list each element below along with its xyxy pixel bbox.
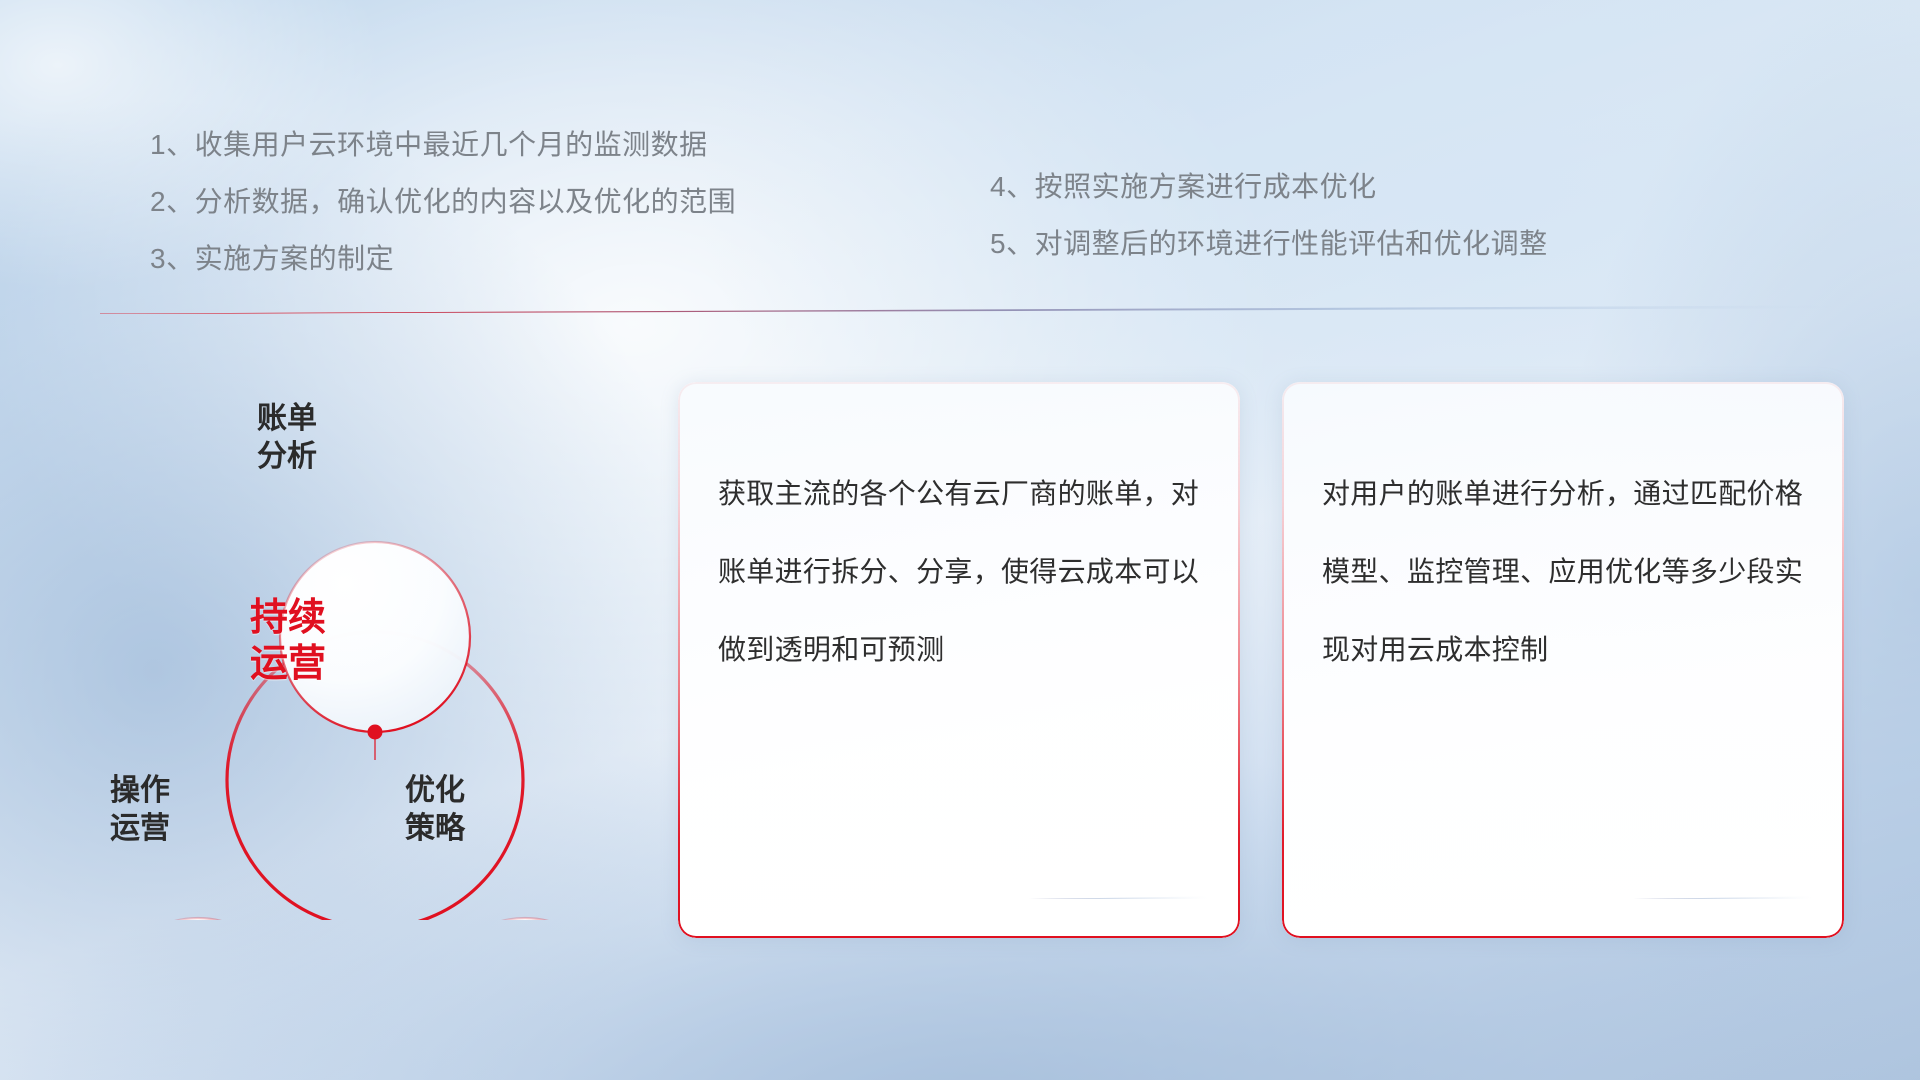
cycle-node-label-top-line1: 账单 (207, 400, 367, 438)
cycle-node-label-right-line2: 策略 (355, 810, 515, 848)
cycle-center-label: 持续 运营 (208, 595, 368, 687)
step-item: 3、实施方案的制定 (150, 230, 736, 287)
section-divider (100, 305, 1838, 314)
cycle-node-right-bubble (432, 918, 618, 920)
step-item: 2、分析数据，确认优化的内容以及优化的范围 (150, 173, 736, 230)
card-description: 对用户的账单进行分析，通过匹配价格模型、监控管理、应用优化等多少段实现对用云成本… (1322, 455, 1808, 689)
feature-card[interactable]: 获取主流的各个公有云厂商的账单，对账单进行拆分、分享，使得云成本可以做到透明和可… (678, 382, 1240, 938)
cycle-center-label-line1: 持续 (208, 595, 368, 641)
cycle-center-label-line2: 运营 (208, 641, 368, 687)
steps-list-left: 1、收集用户云环境中最近几个月的监测数据 2、分析数据，确认优化的内容以及优化的… (150, 116, 736, 287)
step-item: 5、对调整后的环境进行性能评估和优化调整 (990, 215, 1548, 272)
card-divider (1319, 891, 1811, 899)
card-description: 获取主流的各个公有云厂商的账单，对账单进行拆分、分享，使得云成本可以做到透明和可… (718, 455, 1204, 689)
cycle-node-label-left-line2: 运营 (60, 810, 220, 848)
step-item: 4、按照实施方案进行成本优化 (990, 158, 1548, 215)
card-divider (715, 891, 1207, 899)
slide-content: 1、收集用户云环境中最近几个月的监测数据 2、分析数据，确认优化的内容以及优化的… (0, 0, 1920, 1080)
cycle-node-label-left-line1: 操作 (60, 772, 220, 810)
cycle-node-label-right-line1: 优化 (355, 772, 515, 810)
cycle-node-left-bubble (105, 918, 291, 920)
steps-list-right: 4、按照实施方案进行成本优化 5、对调整后的环境进行性能评估和优化调整 (990, 158, 1548, 272)
cycle-node-label-bottom-right: 优化 策略 (355, 772, 515, 848)
step-item: 1、收集用户云环境中最近几个月的监测数据 (150, 116, 736, 173)
feature-card[interactable]: 对用户的账单进行分析，通过匹配价格模型、监控管理、应用优化等多少段实现对用云成本… (1282, 382, 1844, 938)
cycle-dot-top (368, 725, 383, 740)
cycle-node-label-bottom-left: 操作 运营 (60, 772, 220, 848)
cycle-node-label-top-line2: 分析 (207, 438, 367, 476)
cycle-node-label-top: 账单 分析 (207, 400, 367, 476)
